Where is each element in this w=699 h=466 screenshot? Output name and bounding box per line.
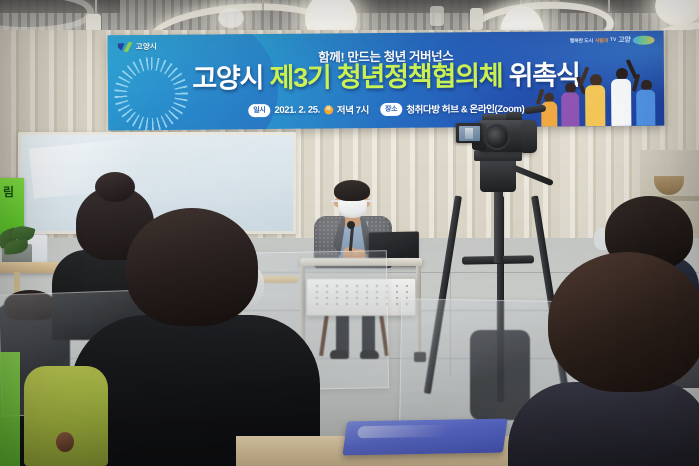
camera-grip <box>521 120 537 153</box>
ceiling-hanging-panel <box>470 8 483 30</box>
banner-title-seg: 고양시 <box>192 63 269 94</box>
pendant-light <box>218 8 244 28</box>
mask-strap <box>366 200 374 202</box>
date-weekday-badge: 목 <box>324 105 333 114</box>
green-panel-left <box>0 352 20 466</box>
crowd-figure <box>608 68 635 126</box>
camera-lens <box>486 126 508 148</box>
attendee-foreground-body <box>508 382 699 466</box>
tripod-center-column <box>494 188 503 263</box>
event-photo: 고양시 행복한 도시 사람과 TV 고양 함께! 만드는 청년 거버넌스 고양시… <box>0 0 699 466</box>
broadcast-logo-line-small: 행복한 도시 <box>570 37 593 44</box>
light-cord <box>262 0 264 10</box>
speaker-hair <box>334 180 370 201</box>
banner-crowd-illustration <box>534 64 663 127</box>
light-cord <box>95 0 97 14</box>
chair-knob <box>56 432 74 452</box>
attendee-foreground-hair <box>548 252 699 392</box>
banner-title-seg-highlight: 제3기 <box>269 62 330 93</box>
desk-microphone-icon <box>347 221 355 229</box>
green-sign-text: 림 <box>3 186 14 199</box>
crowd-figure <box>582 74 608 126</box>
camera-screen-preview <box>465 128 473 139</box>
crowd-figure <box>634 80 658 126</box>
camera-screen-display <box>459 126 480 141</box>
attendee-hair-bun <box>95 172 135 202</box>
date-value-pre: 2021. 2. 25. <box>274 104 319 115</box>
banner-date-group: 일시 2021. 2. 25. 목 저녁 7시 <box>248 102 369 117</box>
crowd-figure <box>558 82 582 126</box>
attendee-center-hair <box>126 208 258 326</box>
ceiling-hanging-panel <box>430 6 444 26</box>
light-cord <box>608 0 610 12</box>
folder-highlight <box>357 424 479 438</box>
place-pill-label: 장소 <box>380 102 402 115</box>
speaker-face-mask <box>338 199 367 218</box>
broadcast-logo-line-tv: TV <box>610 37 616 43</box>
date-value-post: 저녁 7시 <box>337 102 369 116</box>
blue-folder <box>342 419 507 456</box>
broadcast-logo-line-accent: 사람과 <box>595 37 608 44</box>
banner-title-seg-highlight: 청년정책협의체 <box>337 61 503 92</box>
event-banner: 고양시 행복한 도시 사람과 TV 고양 함께! 만드는 청년 거버넌스 고양시… <box>108 31 665 131</box>
camera-flip-screen <box>456 123 482 143</box>
tripod-fluid-head <box>480 158 516 192</box>
date-pill-label: 일시 <box>248 104 270 117</box>
